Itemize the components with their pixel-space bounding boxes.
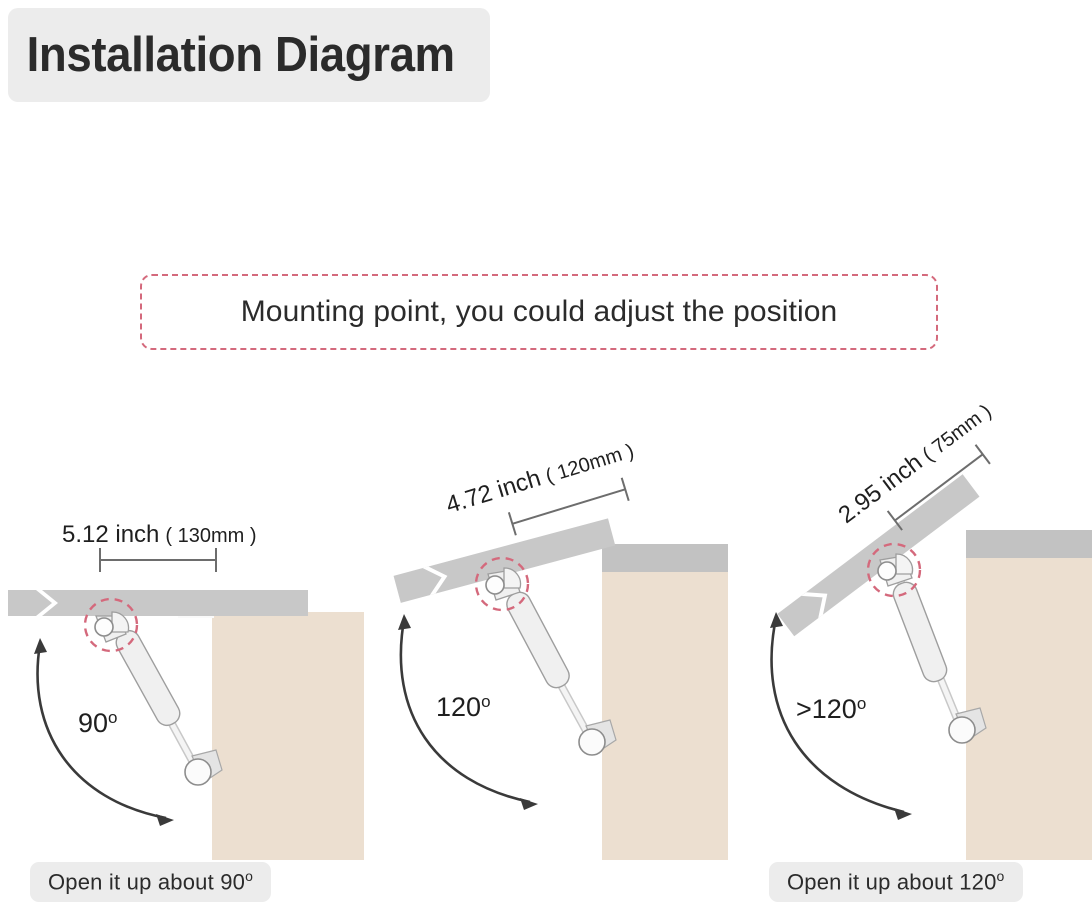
cabinet-top-120 (602, 544, 728, 572)
dimension-line-90 (100, 548, 216, 572)
door-panel-90 (8, 590, 308, 616)
page-title: Installation Diagram (8, 27, 455, 83)
mounting-point-callout-label: Mounting point, you could adjust the pos… (241, 295, 838, 329)
diagram-panel-120: 4.72 inch( 120mm ) 120o (364, 420, 728, 906)
angle-label-90: 90o (78, 708, 118, 738)
angle-label-120: 120o (436, 692, 491, 722)
mounting-point-callout: Mounting point, you could adjust the pos… (140, 274, 938, 350)
page-title-banner: Installation Diagram (8, 8, 490, 102)
diagram-panel-90-illustration: 5.12 inch( 130mm ) (0, 420, 364, 860)
diagram-panel-90: 5.12 inch( 130mm ) (0, 420, 364, 906)
diagram-panel-over-120: 2.95 inch( 75mm ) >120o (728, 420, 1092, 906)
angle-label-over-120: >120o (796, 694, 866, 724)
diagram-panel-over-120-illustration: 2.95 inch( 75mm ) >120o (728, 420, 1092, 860)
dimension-label-120: 4.72 inch( 120mm ) (443, 436, 637, 519)
cabinet-top-over-120 (966, 530, 1092, 558)
cabinet-body-90 (212, 612, 364, 860)
dimension-label-90: 5.12 inch( 130mm ) (62, 521, 257, 548)
cabinet-body-120 (602, 570, 728, 860)
caption-text-90: Open it up about 90o (48, 868, 253, 895)
gas-strut-90 (112, 627, 222, 785)
diagram-panel-120-illustration: 4.72 inch( 120mm ) 120o (364, 420, 728, 860)
caption-pill-90: Open it up about 90o (30, 862, 271, 902)
gas-strut-120 (503, 588, 616, 755)
cabinet-body-over-120 (966, 556, 1092, 860)
